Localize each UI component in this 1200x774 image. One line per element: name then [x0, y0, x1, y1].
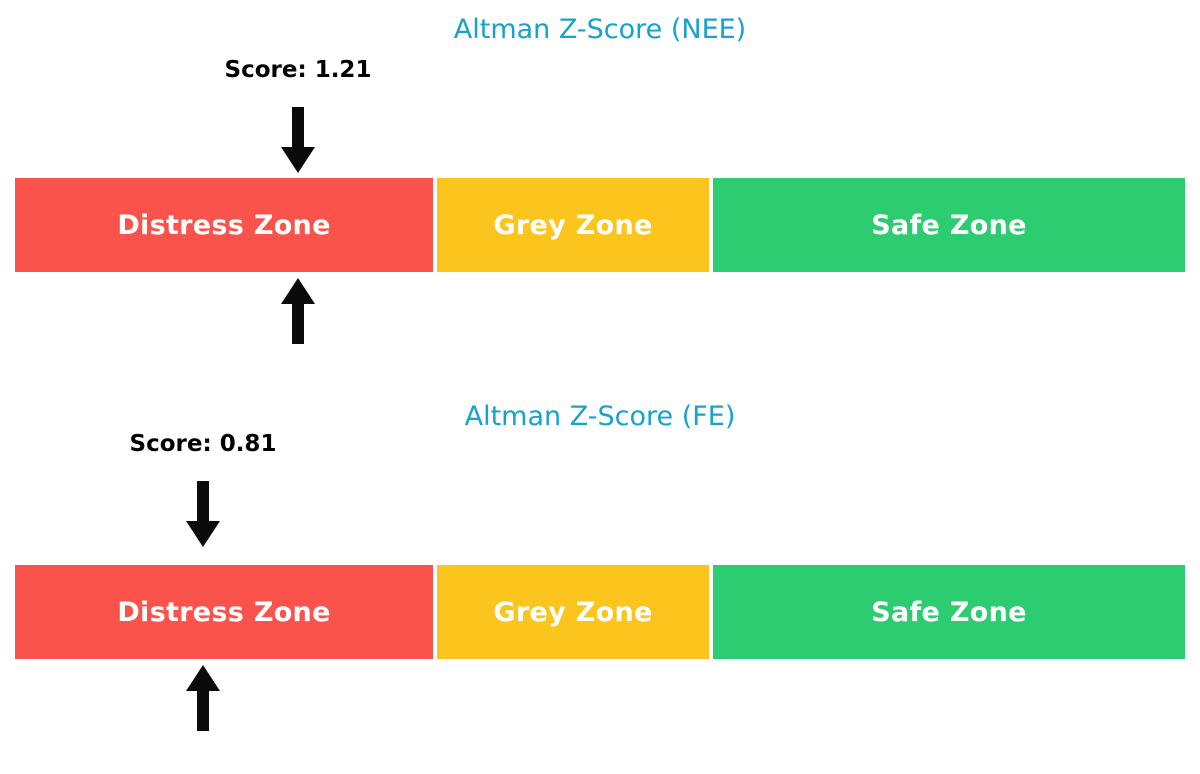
arrow-up-icon: [186, 665, 220, 731]
arrow-shaft: [197, 687, 209, 731]
score-label-nee: Score: 1.21: [225, 57, 372, 83]
zone-label-distress: Distress Zone: [117, 210, 330, 241]
zone-label-grey: Grey Zone: [493, 210, 652, 241]
arrow-shaft: [197, 481, 209, 523]
zone-bar-fe: Distress Zone Grey Zone Safe Zone: [15, 565, 1185, 659]
zone-distress[interactable]: Distress Zone: [15, 178, 433, 272]
arrow-down-icon: [186, 481, 220, 547]
zone-grey[interactable]: Grey Zone: [437, 178, 709, 272]
gauge-chart-fe: Altman Z-Score (FE) Score: 0.81 Distress…: [0, 387, 1200, 774]
gauge-chart-nee: Altman Z-Score (NEE) Score: 1.21 Distres…: [0, 0, 1200, 370]
arrow-up-icon: [281, 278, 315, 344]
arrow-shaft: [292, 300, 304, 344]
zone-bar-nee: Distress Zone Grey Zone Safe Zone: [15, 178, 1185, 272]
zone-safe[interactable]: Safe Zone: [713, 178, 1185, 272]
arrow-head: [281, 147, 315, 173]
zone-label-safe: Safe Zone: [871, 597, 1027, 628]
zone-safe[interactable]: Safe Zone: [713, 565, 1185, 659]
zone-distress[interactable]: Distress Zone: [15, 565, 433, 659]
arrow-down-icon: [281, 107, 315, 173]
zone-label-grey: Grey Zone: [493, 597, 652, 628]
zone-grey[interactable]: Grey Zone: [437, 565, 709, 659]
arrow-shaft: [292, 107, 304, 149]
zone-label-distress: Distress Zone: [117, 597, 330, 628]
arrow-head: [186, 521, 220, 547]
zone-label-safe: Safe Zone: [871, 210, 1027, 241]
chart-title-nee: Altman Z-Score (NEE): [0, 14, 1200, 45]
chart-title-fe: Altman Z-Score (FE): [0, 401, 1200, 432]
score-label-fe: Score: 0.81: [130, 431, 277, 457]
